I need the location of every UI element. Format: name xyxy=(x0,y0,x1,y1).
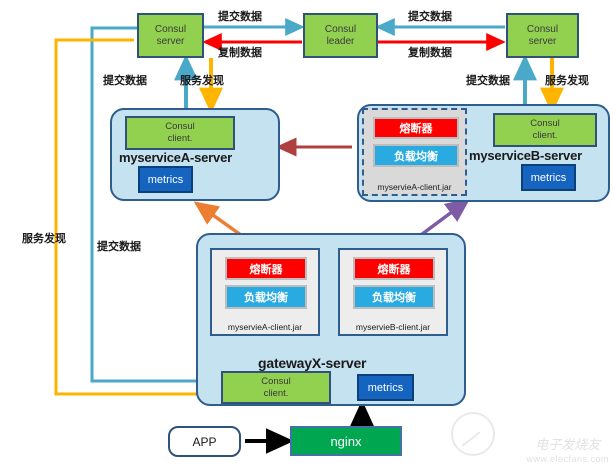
gateway-title: gatewayX-server xyxy=(258,355,366,371)
diagram-canvas: Consul server Consul leader Consul serve… xyxy=(0,0,613,468)
myserviceb-jar-label: myservieA-client.jar xyxy=(364,182,465,192)
gateway-jar-a-load-balance[interactable]: 负载均衡 xyxy=(225,285,307,309)
consul-server-left-line1: Consul xyxy=(155,24,186,36)
consul-server-right[interactable]: Consul server xyxy=(506,13,579,58)
myservicea-consul-client-line2: client. xyxy=(165,133,195,145)
myserviceb-metrics[interactable]: metrics xyxy=(521,164,576,191)
gateway-consul-client-line1: Consul xyxy=(261,376,291,388)
gateway-consul-client[interactable]: Consul client. xyxy=(221,371,331,404)
myserviceb-jar-client-a[interactable]: 熔断器 负载均衡 myservieA-client.jar xyxy=(362,108,467,196)
watermark-line1: 电子发烧友 xyxy=(526,438,609,452)
watermark-logo-icon xyxy=(451,412,495,456)
label-replicate-top-left: 复制数据 xyxy=(218,44,262,60)
watermark-line2: www.elecfans.com xyxy=(526,452,609,466)
label-submit-top-right: 提交数据 xyxy=(408,8,452,24)
consul-server-right-line2: server xyxy=(527,36,558,48)
app-node[interactable]: APP xyxy=(168,426,241,457)
gateway-jar-client-a[interactable]: 熔断器 负载均衡 myservieA-client.jar xyxy=(210,248,320,336)
myserviceb-jar-load-balance[interactable]: 负载均衡 xyxy=(373,144,459,167)
myservicea-consul-client[interactable]: Consul client. xyxy=(125,116,235,150)
gateway-consul-client-line2: client. xyxy=(261,388,291,400)
consul-server-left[interactable]: Consul server xyxy=(137,13,204,58)
consul-leader[interactable]: Consul leader xyxy=(303,13,378,58)
label-submit-top-left: 提交数据 xyxy=(218,8,262,24)
label-submit-service-a: 提交数据 xyxy=(103,72,147,88)
consul-leader-line2: leader xyxy=(325,36,356,48)
gateway-jar-b-fuse[interactable]: 熔断器 xyxy=(353,257,435,280)
consul-server-right-line1: Consul xyxy=(527,24,558,36)
consul-server-left-line2: server xyxy=(155,36,186,48)
watermark: 电子发烧友 www.elecfans.com xyxy=(526,438,609,466)
label-discovery-service-a: 服务发现 xyxy=(180,72,224,88)
label-replicate-top-right: 复制数据 xyxy=(408,44,452,60)
myservicea-title: myserviceA-server xyxy=(119,150,232,165)
myserviceb-consul-client-line2: client. xyxy=(530,130,560,142)
label-submit-gateway: 提交数据 xyxy=(97,238,141,254)
gateway-jar-a-fuse[interactable]: 熔断器 xyxy=(225,257,307,280)
consul-leader-line1: Consul xyxy=(325,24,356,36)
myserviceb-title: myserviceB-server xyxy=(469,148,582,163)
gateway-jar-a-label: myservieA-client.jar xyxy=(212,322,318,332)
nginx-node[interactable]: nginx xyxy=(290,426,402,456)
myserviceb-consul-client[interactable]: Consul client. xyxy=(493,113,597,147)
myservicea-metrics[interactable]: metrics xyxy=(138,166,193,193)
label-submit-service-b: 提交数据 xyxy=(466,72,510,88)
label-discovery-gateway: 服务发现 xyxy=(22,230,66,246)
myservicea-consul-client-line1: Consul xyxy=(165,121,195,133)
myserviceb-consul-client-line1: Consul xyxy=(530,118,560,130)
gateway-jar-b-label: myservieB-client.jar xyxy=(340,322,446,332)
myserviceb-jar-fuse[interactable]: 熔断器 xyxy=(373,117,459,139)
label-discovery-service-b: 服务发现 xyxy=(545,72,589,88)
gateway-jar-client-b[interactable]: 熔断器 负载均衡 myservieB-client.jar xyxy=(338,248,448,336)
gateway-metrics[interactable]: metrics xyxy=(357,374,414,401)
gateway-jar-b-load-balance[interactable]: 负载均衡 xyxy=(353,285,435,309)
